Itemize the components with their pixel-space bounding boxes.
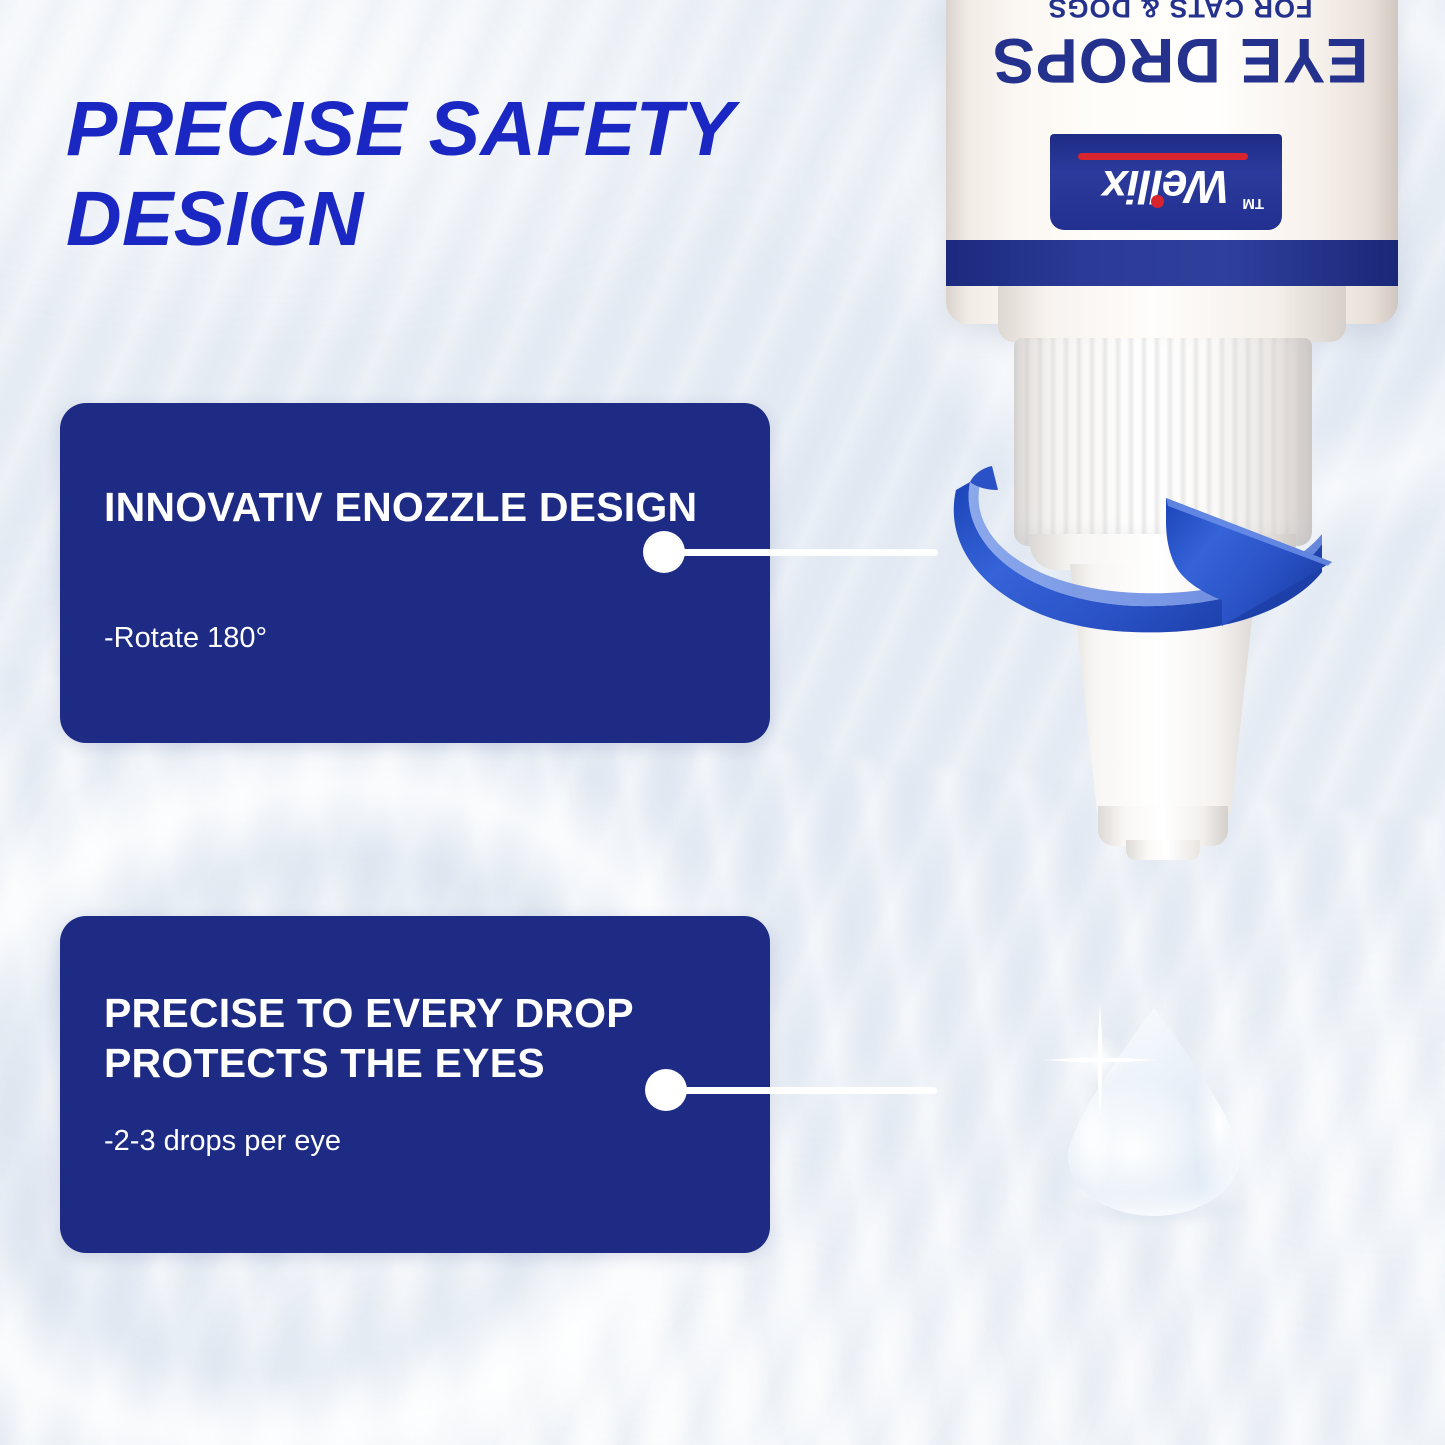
feature-card-nozzle-subtitle: -Rotate 180° — [104, 621, 267, 656]
connector-line-dosage — [682, 1087, 937, 1094]
feature-card-dosage-title: PRECISE TO EVERY DROP PROTECTS THE EYES — [104, 988, 744, 1088]
bottle-blue-band — [946, 240, 1398, 286]
nozzle-tip-end — [1126, 840, 1200, 860]
sparkle-icon — [1040, 1000, 1160, 1120]
feature-card-dosage-subtitle: -2-3 drops per eye — [104, 1124, 341, 1159]
connector-line-nozzle — [680, 549, 938, 556]
feature-card-nozzle: INNOVATIV ENOZZLE DESIGN -Rotate 180° — [60, 403, 770, 743]
page-title: PRECISE SAFETY DESIGN — [66, 84, 946, 264]
infographic-canvas: PRECISE SAFETY DESIGN INNOVATIV ENOZZLE … — [0, 0, 1445, 1445]
product-bottle: FOR CATS & DOGS EYE DROPS Wellix TM — [938, 0, 1398, 954]
connector-dot-icon-dosage — [645, 1069, 687, 1111]
feature-card-nozzle-title: INNOVATIV ENOZZLE DESIGN — [104, 482, 704, 532]
brand-trademark-text: TM — [1242, 195, 1264, 212]
bottle-label-audience: FOR CATS & DOGS — [954, 0, 1406, 23]
brand-logo-plate: Wellix TM — [1050, 134, 1282, 230]
bottle-label-product-name: EYE DROPS — [954, 24, 1406, 96]
rotation-arrow-icon — [930, 394, 1370, 644]
connector-dot-icon-nozzle — [643, 531, 685, 573]
brand-underline-rule — [1078, 153, 1248, 160]
brand-accent-dot-icon — [1151, 195, 1164, 208]
bottle-shoulder — [998, 286, 1346, 342]
